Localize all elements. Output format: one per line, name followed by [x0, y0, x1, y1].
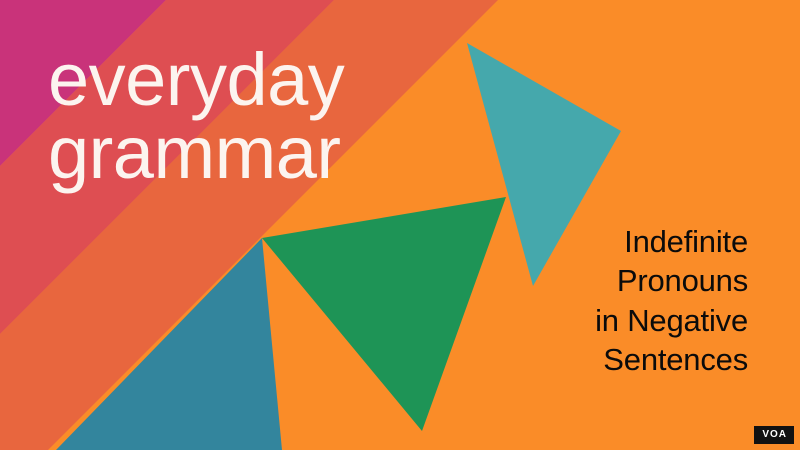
background-shapes-layer — [0, 0, 800, 450]
everyday-grammar-slide: everyday grammar Indefinite Pronouns in … — [0, 0, 800, 450]
voa-logo-watermark: VOA — [754, 426, 794, 444]
